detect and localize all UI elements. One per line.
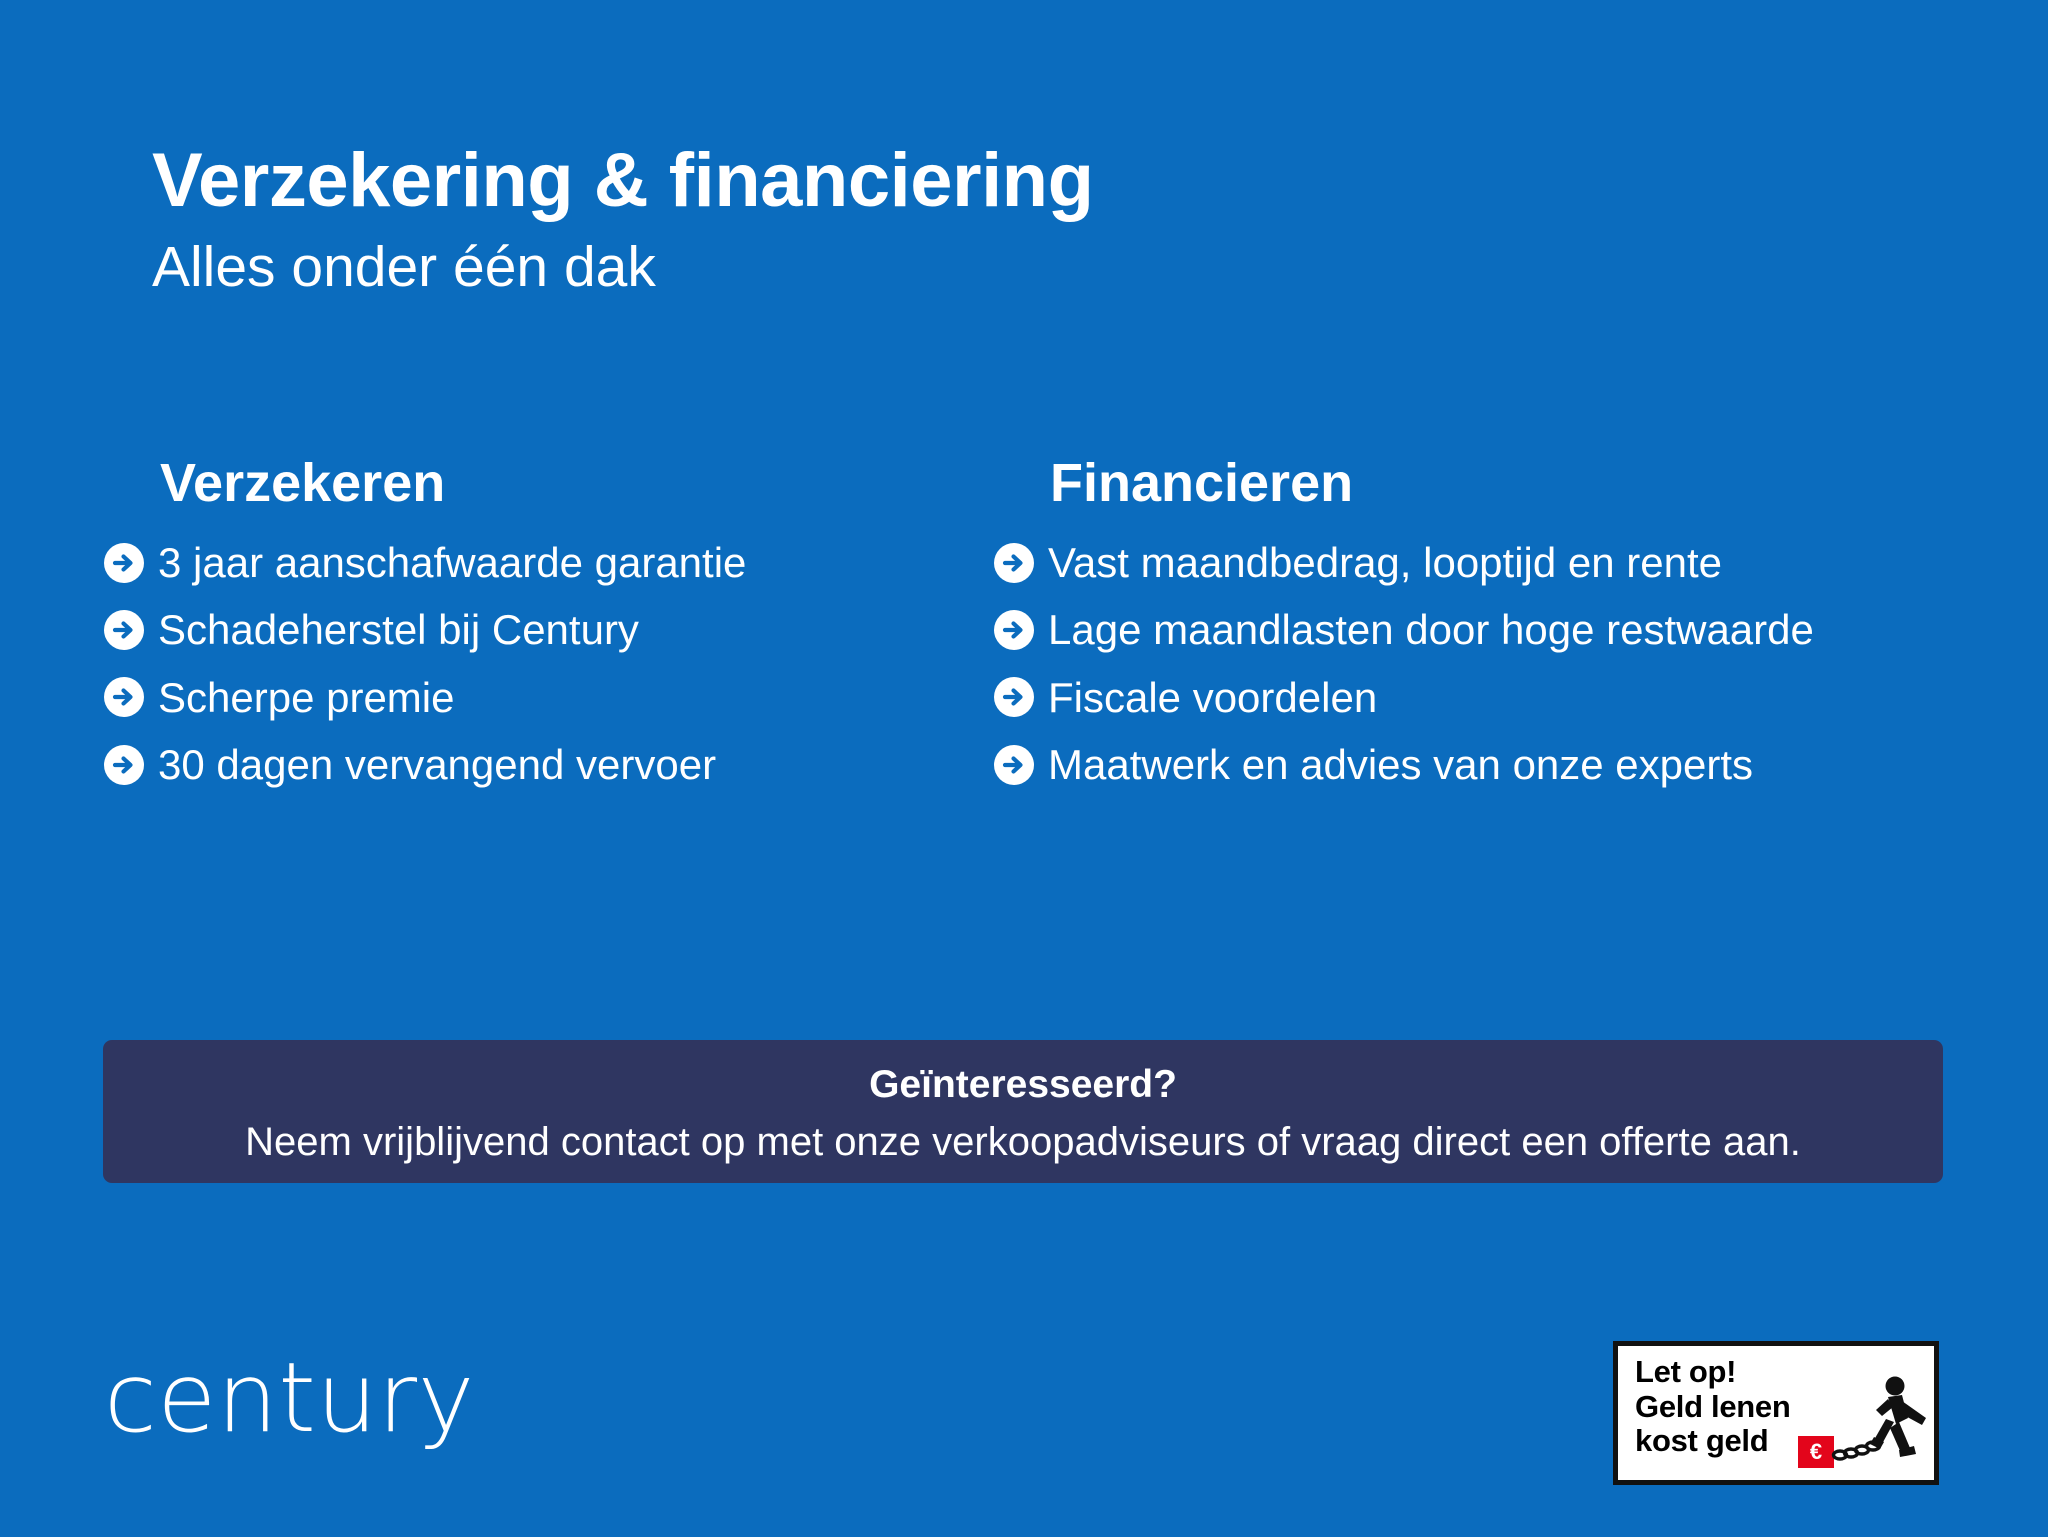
list-item: Scherpe premie xyxy=(104,675,994,720)
warning-badge-text: Let op! Geld lenen kost geld xyxy=(1635,1355,1790,1459)
page-subtitle: Alles onder één dak xyxy=(152,234,1952,301)
list-item: 30 dagen vervangend vervoer xyxy=(104,742,994,787)
arrow-right-circle-icon xyxy=(994,543,1034,583)
page-title: Verzekering & financiering xyxy=(152,140,1952,222)
column-heading-financieren: Financieren xyxy=(1050,452,1964,514)
list-item-label: Fiscale voordelen xyxy=(1048,675,1377,720)
list-item: Fiscale voordelen xyxy=(994,675,1964,720)
benefit-list-financieren: Vast maandbedrag, looptijd en rente Lage… xyxy=(994,540,1964,787)
slide-header: Verzekering & financiering Alles onder é… xyxy=(152,140,1952,301)
arrow-right-circle-icon xyxy=(994,745,1034,785)
slide-root: Verzekering & financiering Alles onder é… xyxy=(0,0,2048,1537)
column-verzekeren: Verzekeren 3 jaar aanschafwaarde garanti… xyxy=(104,452,994,787)
benefits-columns: Verzekeren 3 jaar aanschafwaarde garanti… xyxy=(104,452,1964,787)
cta-callout: Geïnteresseerd? Neem vrijblijvend contac… xyxy=(103,1040,1943,1183)
benefit-list-verzekeren: 3 jaar aanschafwaarde garantie Schadeher… xyxy=(104,540,994,787)
list-item: 3 jaar aanschafwaarde garantie xyxy=(104,540,994,585)
list-item: Schadeherstel bij Century xyxy=(104,607,994,652)
column-financieren: Financieren Vast maandbedrag, looptijd e… xyxy=(994,452,1964,787)
cta-callout-title: Geïnteresseerd? xyxy=(869,1061,1177,1110)
list-item-label: Scherpe premie xyxy=(158,675,454,720)
list-item: Vast maandbedrag, looptijd en rente xyxy=(994,540,1964,585)
arrow-right-circle-icon xyxy=(104,610,144,650)
status-badge: Let op! Geld lenen kost geld € xyxy=(1613,1341,1939,1485)
list-item-label: Lage maandlasten door hoge restwaarde xyxy=(1048,607,1814,652)
century-logo: century xyxy=(104,1350,475,1446)
list-item-label: 30 dagen vervangend vervoer xyxy=(158,742,716,787)
list-item: Lage maandlasten door hoge restwaarde xyxy=(994,607,1964,652)
list-item: Maatwerk en advies van onze experts xyxy=(994,742,1964,787)
arrow-right-circle-icon xyxy=(104,677,144,717)
list-item-label: Schadeherstel bij Century xyxy=(158,607,639,652)
column-heading-verzekeren: Verzekeren xyxy=(160,452,994,514)
arrow-right-circle-icon xyxy=(994,610,1034,650)
arrow-right-circle-icon xyxy=(104,745,144,785)
list-item-label: Vast maandbedrag, looptijd en rente xyxy=(1048,540,1722,585)
svg-text:€: € xyxy=(1810,1439,1822,1464)
man-dragging-euro-ball-and-chain-icon: € xyxy=(1798,1374,1930,1476)
list-item-label: 3 jaar aanschafwaarde garantie xyxy=(158,540,746,585)
list-item-label: Maatwerk en advies van onze experts xyxy=(1048,742,1753,787)
warning-badge-inner: Let op! Geld lenen kost geld € xyxy=(1618,1346,1934,1480)
arrow-right-circle-icon xyxy=(994,677,1034,717)
cta-callout-body: Neem vrijblijvend contact op met onze ve… xyxy=(245,1118,1801,1166)
arrow-right-circle-icon xyxy=(104,543,144,583)
